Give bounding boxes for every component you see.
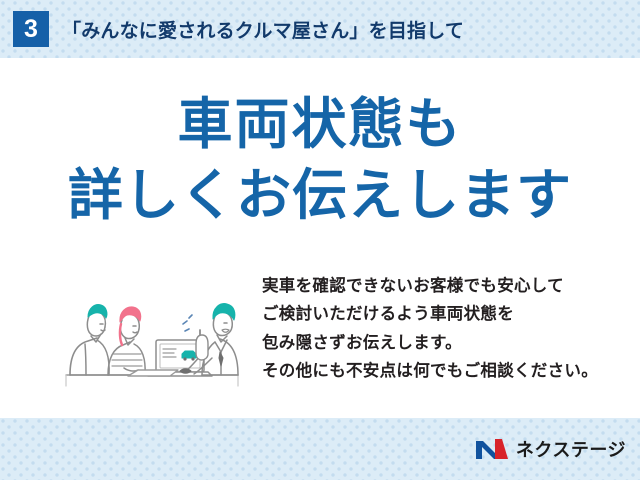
header-title: 「みんなに愛されるクルマ屋さん」を目指して	[62, 16, 464, 43]
content-row: 実車を確認できないお客様でも安心して ご検討いただけるよう車両状態を 包み隠さず…	[0, 272, 640, 402]
brand-logo: ネクステージ	[475, 436, 626, 462]
desk-document	[128, 370, 178, 376]
header-band: 3 「みんなに愛されるクルマ屋さん」を目指して	[0, 0, 640, 58]
headline-line-2: 詳しくお伝えします	[0, 163, 640, 228]
headline: 車両状態も 詳しくお伝えします	[0, 92, 640, 228]
consultation-illustration	[52, 272, 252, 394]
body-copy: 実車を確認できないお客様でも安心して ご検討いただけるよう車両状態を 包み隠さず…	[262, 272, 598, 386]
brand-name: ネクステージ	[516, 436, 626, 462]
body-copy-line-2: ご検討いただけるよう車両状態を	[262, 300, 598, 328]
body-copy-line-1: 実車を確認できないお客様でも安心して	[262, 272, 598, 300]
headline-line-1: 車両状態も	[0, 92, 640, 157]
nextage-n-mark-icon	[475, 437, 509, 461]
customer-woman	[108, 307, 145, 375]
body-copy-line-3: 包み隠さずお伝えします。	[262, 329, 598, 357]
promo-banner: 3 「みんなに愛されるクルマ屋さん」を目指して 車両状態も 詳しくお伝えします	[0, 0, 640, 480]
body-copy-line-4: その他にも不安点は何でもご相談ください。	[262, 357, 598, 385]
speech-marks	[183, 315, 192, 331]
footer-band: ネクステージ	[0, 418, 640, 480]
step-number-badge: 3	[13, 11, 49, 47]
customer-man	[70, 305, 109, 375]
